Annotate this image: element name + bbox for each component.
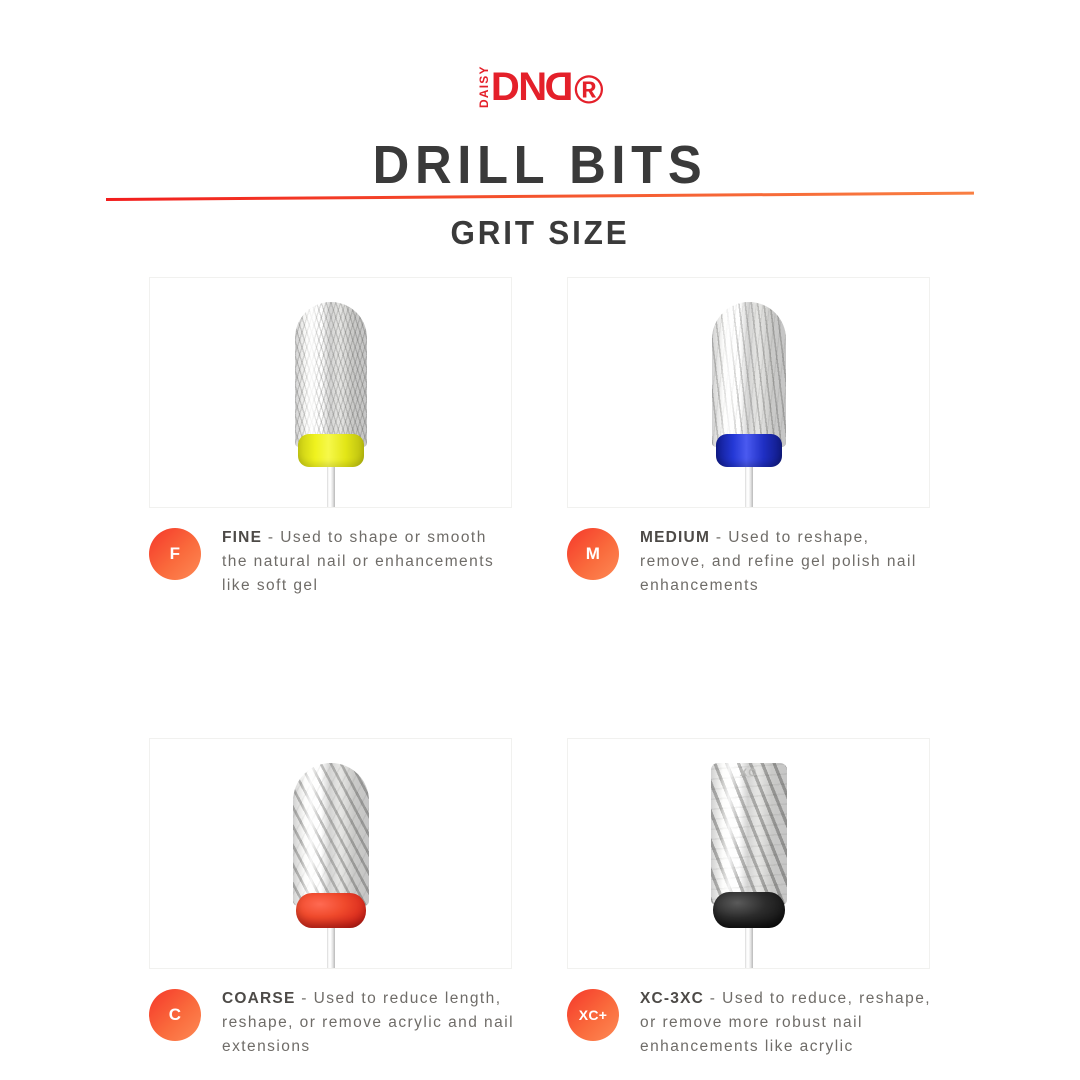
separator-fine: - [262,529,280,546]
brand-logo: DAISY DND ® [0,68,1080,106]
drill-bit-illustration-coarse [276,745,386,969]
caption-medium: M MEDIUM - Used to reshape, remove, and … [567,524,932,598]
trademark-symbol: ® [574,70,602,110]
grit-name-coarse: COARSE [222,990,296,1007]
caption-text-coarse: COARSE - Used to reduce length, reshape,… [222,985,514,1059]
grit-badge-coarse: C [149,989,201,1041]
bit-head-xc: XC [711,763,787,905]
grit-badge-medium: M [567,528,619,580]
grit-name-medium: MEDIUM [640,529,710,546]
bit-color-band-black [713,892,785,928]
caption-text-fine: FINE - Used to shape or smooth the natur… [222,524,514,598]
dnd-logo-lockup: DAISY DND ® [478,68,602,106]
bit-photo-medium [567,277,930,508]
bit-photo-coarse [149,738,512,969]
grid-row-bottom: C COARSE - Used to reduce length, reshap… [149,738,933,1059]
caption-text-medium: MEDIUM - Used to reshape, remove, and re… [640,524,932,598]
caption-fine: F FINE - Used to shape or smooth the nat… [149,524,514,598]
page-subtitle: GRIT SIZE [27,216,1053,249]
separator-medium: - [710,529,728,546]
bit-color-band-red [296,893,366,928]
bit-flute-texture-b [712,302,786,447]
card-coarse: C COARSE - Used to reduce length, reshap… [149,738,514,1059]
drill-bit-illustration-medium [694,284,804,508]
bit-color-band-yellow [298,434,364,467]
grit-badge-fine: F [149,528,201,580]
separator-coarse: - [296,990,314,1007]
bit-head-coarse [293,763,369,906]
grid-row-top: F FINE - Used to shape or smooth the nat… [149,277,933,598]
page-title: DRILL BITS [32,138,1047,192]
bit-flute-texture-b [295,302,367,447]
gradient-divider-line [106,192,974,201]
brand-dnd-part2-mirrored: D [546,67,573,107]
bit-flute-texture-b [711,763,787,905]
card-xc: XC XC+ XC-3XC - Used to reduce, reshape,… [567,738,932,1059]
drill-bit-illustration-xc: XC [694,745,804,969]
bit-color-band-blue [716,434,782,467]
brand-dnd-part1: DN [491,67,546,107]
bit-top-engraving-xc: XC [711,767,787,779]
bit-head-fine [295,302,367,447]
card-fine: F FINE - Used to shape or smooth the nat… [149,277,514,598]
grit-name-fine: FINE [222,529,262,546]
caption-coarse: C COARSE - Used to reduce length, reshap… [149,985,514,1059]
drill-bit-illustration-fine [276,284,386,508]
brand-dnd-text: DND ® [491,68,602,106]
bit-head-medium [712,302,786,447]
grit-badge-xc: XC+ [567,989,619,1041]
caption-xc: XC+ XC-3XC - Used to reduce, reshape, or… [567,985,932,1059]
gradient-divider [106,190,974,212]
card-medium: M MEDIUM - Used to reshape, remove, and … [567,277,932,598]
caption-text-xc: XC-3XC - Used to reduce, reshape, or rem… [640,985,932,1059]
drill-bit-grid: F FINE - Used to shape or smooth the nat… [149,277,933,1059]
brand-daisy-text: DAISY [478,68,490,106]
bit-photo-xc: XC [567,738,930,969]
separator-xc: - [704,990,722,1007]
bit-flute-texture-b [293,763,369,906]
bit-photo-fine [149,277,512,508]
grit-name-xc: XC-3XC [640,990,704,1007]
